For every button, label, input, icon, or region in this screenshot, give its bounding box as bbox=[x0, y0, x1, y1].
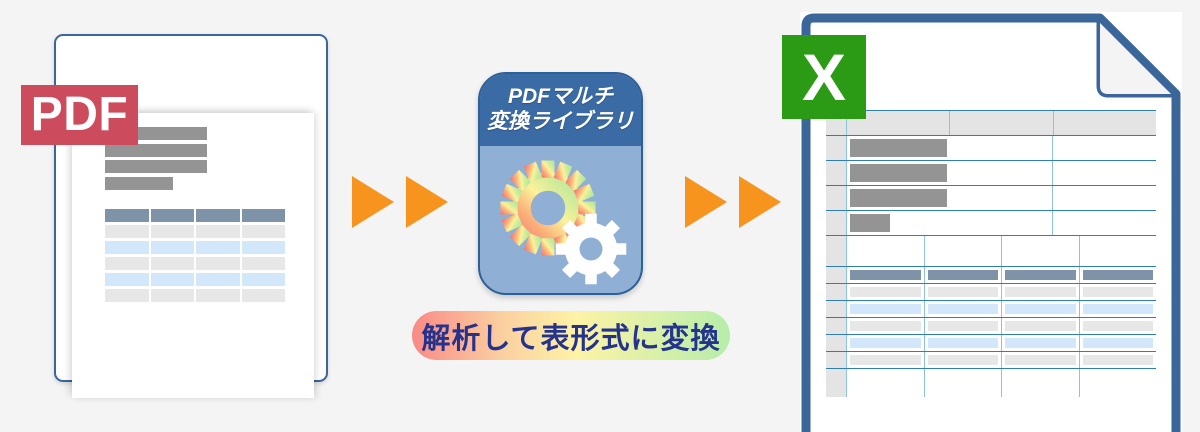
table-cell bbox=[196, 241, 240, 254]
row-gutter bbox=[826, 186, 847, 210]
table-cell bbox=[196, 273, 240, 286]
sheet-cell bbox=[847, 267, 925, 283]
sheet-cell bbox=[847, 186, 950, 210]
sheet-cell bbox=[1002, 369, 1080, 397]
sheet-row bbox=[826, 318, 1156, 335]
pdf-front-sheet bbox=[72, 113, 314, 398]
table-cell bbox=[242, 225, 286, 238]
sheet-cell bbox=[847, 284, 925, 300]
table-cell bbox=[196, 257, 240, 270]
table-row bbox=[105, 257, 285, 270]
row-gutter bbox=[826, 136, 847, 160]
sheet-cell bbox=[925, 284, 1003, 300]
sheet-cell bbox=[1002, 352, 1080, 368]
sheet-cell bbox=[1053, 161, 1156, 185]
sheet-cell bbox=[1002, 284, 1080, 300]
sheet-cell bbox=[847, 352, 925, 368]
sheet-cell bbox=[1080, 236, 1157, 266]
table-cell bbox=[151, 257, 195, 270]
converter-library-badge: PDFマルチ 変換ライブラリ bbox=[478, 72, 643, 295]
row-gutter bbox=[826, 369, 847, 397]
sheet-row bbox=[826, 211, 1156, 236]
sheet-cell bbox=[1053, 136, 1156, 160]
table-cell bbox=[105, 209, 149, 222]
row-gutter bbox=[826, 335, 847, 351]
sheet-cell bbox=[925, 236, 1003, 266]
converter-icon-area bbox=[480, 146, 641, 295]
sheet-cell bbox=[1053, 186, 1156, 210]
row-gutter bbox=[826, 352, 847, 368]
sheet-row bbox=[826, 267, 1156, 284]
sheet-cell bbox=[925, 301, 1003, 317]
arrow-right-icon bbox=[685, 176, 727, 228]
sheet-cell bbox=[847, 318, 925, 334]
row-gutter bbox=[826, 211, 847, 235]
sheet-row bbox=[826, 301, 1156, 318]
sheet-cell bbox=[925, 369, 1003, 397]
row-gutter bbox=[826, 284, 847, 300]
table-cell bbox=[196, 225, 240, 238]
sheet-cell bbox=[847, 236, 925, 266]
excel-sheet bbox=[826, 110, 1156, 420]
pdf-text-line bbox=[105, 177, 173, 190]
table-row bbox=[105, 289, 285, 302]
table-row bbox=[105, 225, 285, 238]
sheet-cell bbox=[925, 335, 1003, 351]
arrow-right-icon bbox=[739, 176, 781, 228]
excel-badge-label: X bbox=[802, 44, 846, 110]
sheet-cell bbox=[1080, 318, 1157, 334]
sheet-cell bbox=[847, 335, 925, 351]
converter-title-line-2: 変換ライブラリ bbox=[487, 110, 634, 135]
excel-badge: X bbox=[782, 35, 866, 119]
table-cell bbox=[105, 241, 149, 254]
table-cell bbox=[105, 273, 149, 286]
sheet-cell bbox=[1080, 335, 1157, 351]
sheet-cell bbox=[950, 186, 1054, 210]
sheet-cell bbox=[1002, 267, 1080, 283]
table-cell bbox=[196, 289, 240, 302]
pdf-badge: PDF bbox=[21, 85, 138, 145]
illustration-canvas: PDF PDFマルチ 変換ライブラリ bbox=[0, 0, 1200, 420]
table-cell bbox=[151, 209, 195, 222]
row-gutter bbox=[826, 161, 847, 185]
row-gutter bbox=[826, 318, 847, 334]
sheet-cell bbox=[1053, 211, 1156, 235]
table-cell bbox=[151, 273, 195, 286]
table-row bbox=[105, 209, 285, 222]
sheet-cell bbox=[1002, 301, 1080, 317]
sheet-cell bbox=[1002, 236, 1080, 266]
sheet-cell bbox=[847, 136, 950, 160]
table-cell bbox=[105, 289, 149, 302]
table-cell bbox=[242, 209, 286, 222]
pdf-text-line bbox=[105, 144, 207, 157]
sheet-cell bbox=[847, 211, 950, 235]
row-gutter bbox=[826, 236, 847, 266]
sheet-row bbox=[826, 161, 1156, 186]
sheet-cell bbox=[1080, 284, 1157, 300]
converter-title-line-1: PDFマルチ bbox=[508, 85, 613, 110]
arrow-group-right bbox=[685, 176, 781, 228]
sheet-row bbox=[826, 136, 1156, 161]
table-row bbox=[105, 241, 285, 254]
sheet-cell bbox=[1080, 352, 1157, 368]
sheet-row bbox=[826, 236, 1156, 267]
table-cell bbox=[242, 289, 286, 302]
pdf-table bbox=[105, 209, 285, 305]
sheet-cell bbox=[950, 161, 1054, 185]
sheet-cell bbox=[1054, 111, 1156, 135]
caption-banner: 解析して表形式に変換 bbox=[412, 311, 730, 360]
table-cell bbox=[242, 241, 286, 254]
sheet-row bbox=[826, 110, 1156, 136]
arrow-right-icon bbox=[352, 176, 394, 228]
table-cell bbox=[151, 225, 195, 238]
sheet-cell bbox=[847, 369, 925, 397]
sheet-row bbox=[826, 186, 1156, 211]
sheet-row bbox=[826, 352, 1156, 369]
table-cell bbox=[242, 273, 286, 286]
sheet-row bbox=[826, 369, 1156, 397]
table-row bbox=[105, 273, 285, 286]
table-cell bbox=[105, 257, 149, 270]
arrow-right-icon bbox=[406, 176, 448, 228]
sheet-cell bbox=[950, 136, 1054, 160]
table-cell bbox=[151, 241, 195, 254]
caption-text: 解析して表形式に変換 bbox=[421, 315, 720, 357]
excel-document: X bbox=[800, 12, 1182, 432]
table-cell bbox=[151, 289, 195, 302]
table-cell bbox=[196, 209, 240, 222]
sheet-cell bbox=[1080, 267, 1157, 283]
sheet-cell bbox=[950, 111, 1053, 135]
converter-title: PDFマルチ 変換ライブラリ bbox=[480, 74, 641, 146]
sheet-row bbox=[826, 335, 1156, 352]
sheet-cell bbox=[950, 211, 1054, 235]
gear-small-icon bbox=[550, 208, 632, 290]
sheet-cell bbox=[1080, 369, 1157, 397]
sheet-cell bbox=[1080, 301, 1157, 317]
sheet-cell bbox=[925, 267, 1003, 283]
sheet-cell bbox=[847, 301, 925, 317]
sheet-cell bbox=[847, 161, 950, 185]
row-gutter bbox=[826, 301, 847, 317]
sheet-cell bbox=[925, 352, 1003, 368]
table-cell bbox=[105, 225, 149, 238]
pdf-text-line bbox=[105, 160, 207, 173]
row-gutter bbox=[826, 267, 847, 283]
pdf-badge-label: PDF bbox=[31, 91, 129, 139]
sheet-cell bbox=[1002, 318, 1080, 334]
table-cell bbox=[242, 257, 286, 270]
sheet-cell bbox=[925, 318, 1003, 334]
arrow-group-left bbox=[352, 176, 448, 228]
sheet-row bbox=[826, 284, 1156, 301]
sheet-cell bbox=[1002, 335, 1080, 351]
